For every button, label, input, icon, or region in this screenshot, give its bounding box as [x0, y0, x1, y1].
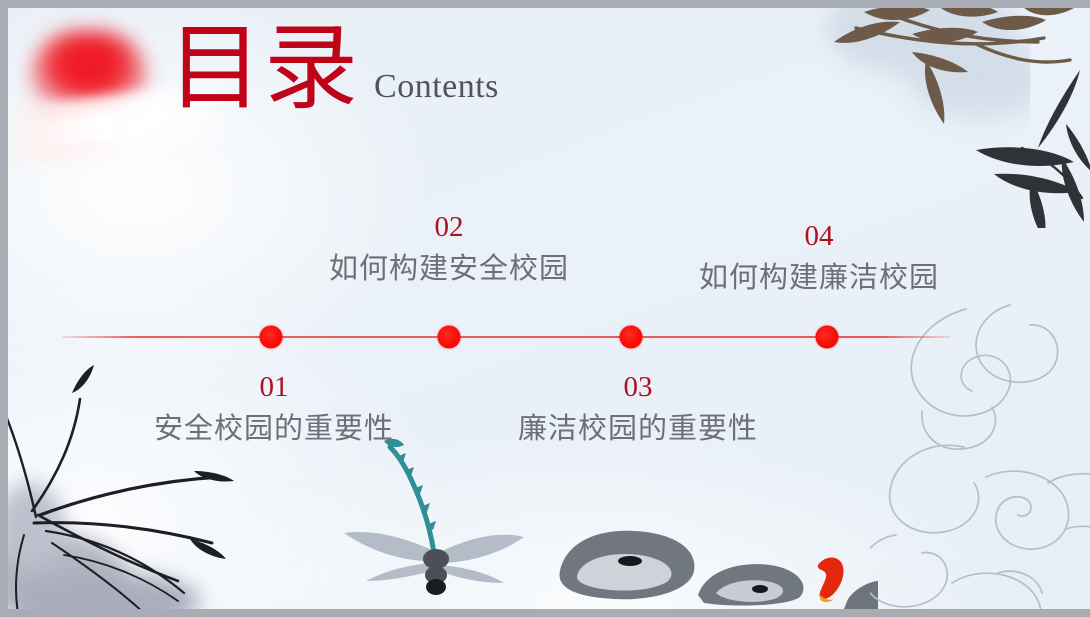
timeline-entry-04[interactable]: 04 如何构建廉洁校园 — [699, 221, 939, 296]
timeline-dot-01[interactable] — [260, 326, 283, 349]
timeline-label-03: 廉洁校园的重要性 — [518, 405, 758, 447]
timeline-entry-03[interactable]: 03 廉洁校园的重要性 — [518, 372, 758, 447]
timeline-dot-03[interactable] — [620, 326, 643, 349]
timeline-label-01: 安全校园的重要性 — [154, 405, 394, 447]
timeline-dot-04[interactable] — [816, 326, 839, 349]
timeline-number-01: 01 — [154, 372, 394, 402]
presentation-slide: 目录 Contents 02 如何构建安全校园 04 如何构建廉洁校园 01 安… — [8, 8, 1090, 609]
timeline-number-03: 03 — [518, 372, 758, 402]
timeline-dot-02[interactable] — [438, 326, 461, 349]
timeline-number-04: 04 — [699, 221, 939, 251]
timeline-label-04: 如何构建廉洁校园 — [699, 254, 939, 296]
contents-timeline: 02 如何构建安全校园 04 如何构建廉洁校园 01 安全校园的重要性 03 廉… — [8, 8, 1090, 609]
timeline-entry-01[interactable]: 01 安全校园的重要性 — [154, 372, 394, 447]
timeline-label-02: 如何构建安全校园 — [329, 245, 569, 287]
timeline-number-02: 02 — [329, 212, 569, 242]
timeline-entry-02[interactable]: 02 如何构建安全校园 — [329, 212, 569, 287]
